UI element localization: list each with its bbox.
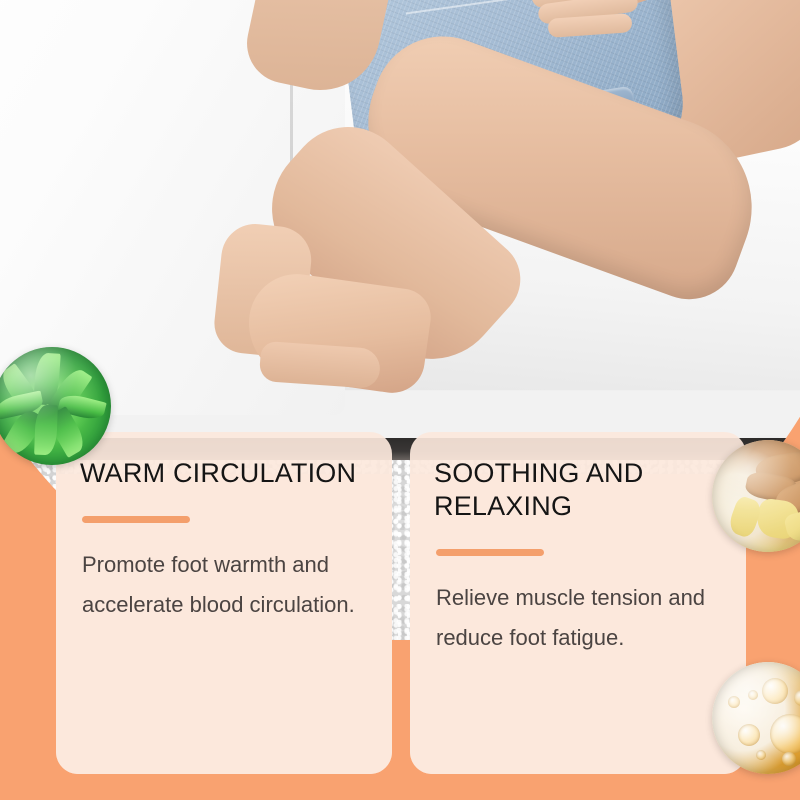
card-title: WARM CIRCULATION xyxy=(80,457,364,490)
mugwort-ingredient-badge xyxy=(0,347,111,465)
card-title: SOOTHING AND RELAXING xyxy=(434,457,718,523)
oil-ingredient-badge xyxy=(712,662,800,774)
card-content: SOOTHING AND RELAXING Relieve muscle ten… xyxy=(410,432,746,658)
toes xyxy=(259,341,381,389)
feature-card-soothing-and-relaxing: SOOTHING AND RELAXING Relieve muscle ten… xyxy=(410,432,746,774)
card-body-text: Promote foot warmth and accelerate blood… xyxy=(82,545,364,625)
ginger-ingredient-badge xyxy=(712,440,800,552)
card-divider xyxy=(82,516,190,523)
card-body-text: Relieve muscle tension and reduce foot f… xyxy=(436,578,718,658)
card-divider xyxy=(436,549,544,556)
feature-card-warm-circulation: WARM CIRCULATION Promote foot warmth and… xyxy=(56,432,392,774)
promo-poster: WARM CIRCULATION Promote foot warmth and… xyxy=(0,0,800,800)
